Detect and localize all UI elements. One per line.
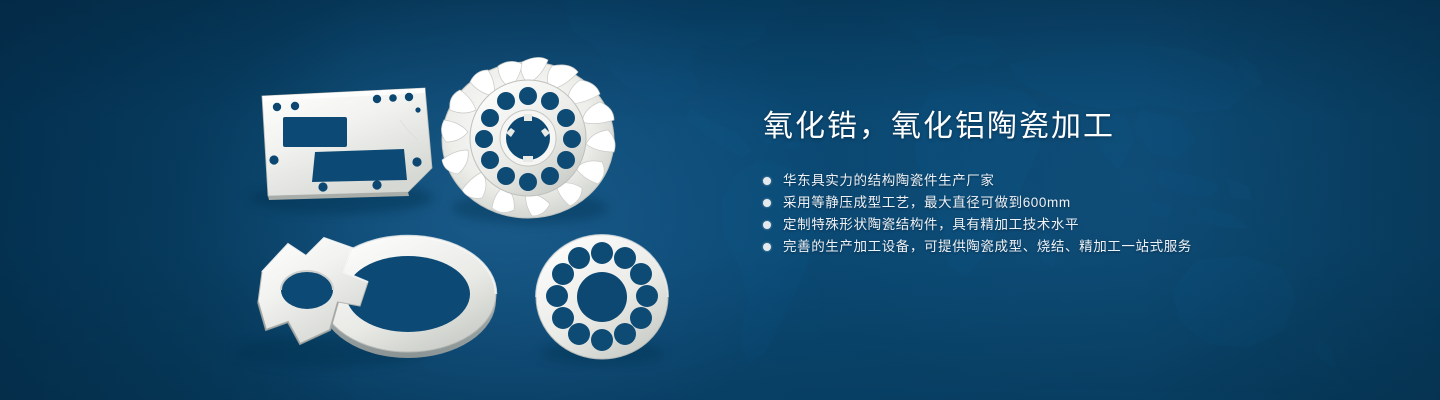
list-item-label: 采用等静压成型工艺，最大直径可做到600mm <box>783 192 1071 214</box>
filled-circle-bullet-icon <box>763 243 771 251</box>
ceramic-plate-icon <box>250 88 434 214</box>
feature-list: 华东具实力的结构陶瓷件生产厂家 采用等静压成型工艺，最大直径可做到600mm 定… <box>763 170 1383 258</box>
banner-copy: 氧化锆，氧化铝陶瓷加工 华东具实力的结构陶瓷件生产厂家 采用等静压成型工艺，最大… <box>763 108 1383 258</box>
ceramic-perforated-disc-icon <box>536 235 668 365</box>
promo-banner: 氧化锆，氧化铝陶瓷加工 华东具实力的结构陶瓷件生产厂家 采用等静压成型工艺，最大… <box>0 0 1440 400</box>
filled-circle-bullet-icon <box>763 221 771 229</box>
ceramic-products-photo <box>0 0 720 400</box>
list-item: 定制特殊形状陶瓷结构件，具有精加工技术水平 <box>763 214 1383 236</box>
list-item-label: 定制特殊形状陶瓷结构件，具有精加工技术水平 <box>783 214 1079 236</box>
list-item: 华东具实力的结构陶瓷件生产厂家 <box>763 170 1383 192</box>
filled-circle-bullet-icon <box>763 177 771 185</box>
page-title: 氧化锆，氧化铝陶瓷加工 <box>763 108 1383 146</box>
list-item-label: 完善的生产加工设备，可提供陶瓷成型、烧结、精加工一站式服务 <box>783 236 1192 258</box>
list-item: 采用等静压成型工艺，最大直径可做到600mm <box>763 192 1383 214</box>
ceramic-cross-part-icon <box>234 236 496 368</box>
list-item-label: 华东具实力的结构陶瓷件生产厂家 <box>783 170 995 192</box>
filled-circle-bullet-icon <box>763 199 771 207</box>
ceramic-impeller-icon <box>441 57 615 224</box>
list-item: 完善的生产加工设备，可提供陶瓷成型、烧结、精加工一站式服务 <box>763 236 1383 258</box>
